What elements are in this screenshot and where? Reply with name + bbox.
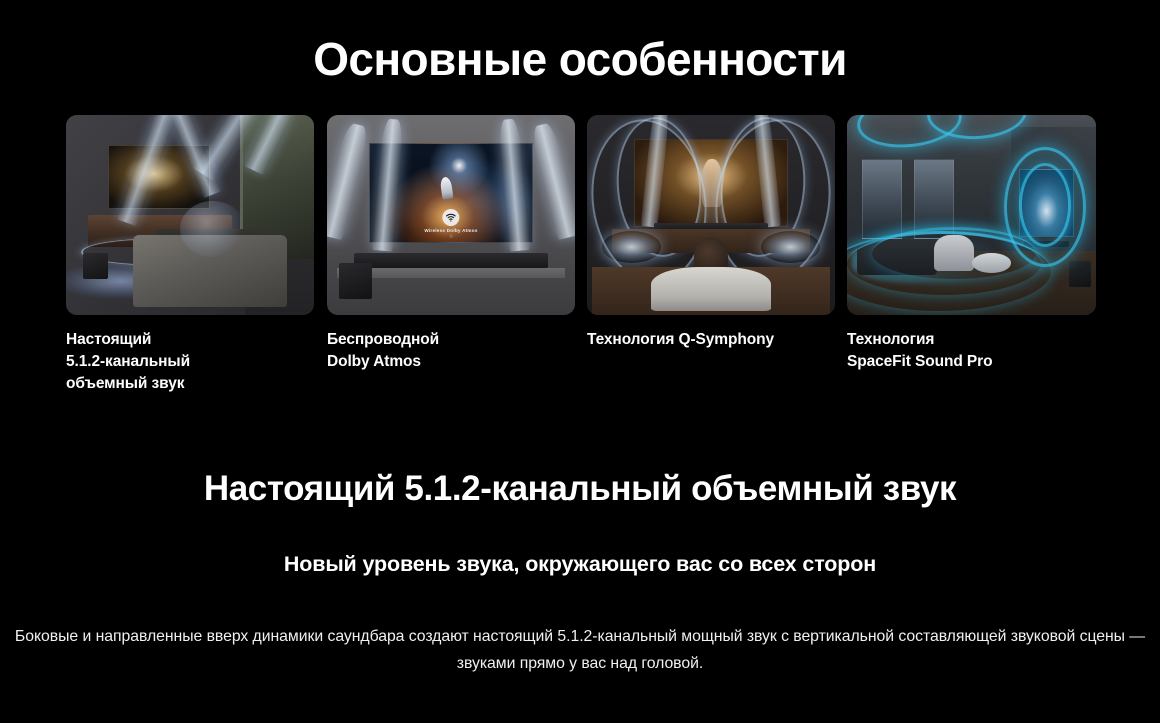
hero-heading: Настоящий 5.1.2-канальный объемный звук (0, 469, 1160, 509)
sound-beam-icon (327, 122, 370, 241)
acoustic-halo-icon (1019, 163, 1071, 247)
q-symphony-scene-illustration (587, 115, 835, 315)
sound-beam-icon (529, 122, 575, 241)
feature-card-caption: Беспроводной Dolby Atmos (327, 329, 575, 373)
wireless-dolby-atmos-badge: Wireless Dolby Atmos ☃ (424, 209, 477, 240)
subwoofer (339, 263, 371, 299)
living-room-scene-illustration (66, 115, 314, 315)
wireless-dolby-atmos-label: Wireless Dolby Atmos (424, 228, 477, 233)
subwoofer (83, 253, 108, 279)
speaker-burst-icon (761, 231, 821, 263)
sound-orb (180, 201, 244, 257)
feature-card-dolby-atmos[interactable]: Wireless Dolby Atmos ☃ Беспроводной Dolb… (327, 115, 575, 373)
feature-card-q-symphony[interactable]: Технология Q-Symphony (587, 115, 835, 351)
feature-thumbnail-spacefit-sound-pro[interactable] (847, 115, 1096, 315)
viewer-body (651, 267, 770, 311)
feature-card-strip: Настоящий 5.1.2-канальный объемный звук (66, 115, 1095, 400)
subwoofer (1069, 261, 1091, 287)
space-shuttle-graphic (440, 177, 454, 200)
hero-body-text: Боковые и направленные вверх динамики са… (10, 623, 1150, 677)
spacefit-scene-illustration (847, 115, 1096, 315)
feature-card-caption: Технология SpaceFit Sound Pro (847, 329, 1096, 373)
feature-thumbnail-surround-sound[interactable] (66, 115, 314, 315)
feature-card-surround-sound[interactable]: Настоящий 5.1.2-канальный объемный звук (66, 115, 314, 395)
dolby-atmos-scene-illustration: Wireless Dolby Atmos ☃ (327, 115, 575, 315)
hero-subheading: Новый уровень звука, окружающего вас со … (0, 552, 1160, 577)
atmos-person-icon: ☃ (449, 235, 453, 240)
feature-card-caption: Настоящий 5.1.2-канальный объемный звук (66, 329, 314, 395)
room-window (862, 159, 902, 239)
room-scan-sweep (872, 227, 1036, 279)
wifi-icon (442, 209, 459, 226)
page-title: Основные особенности (0, 34, 1160, 85)
soundbar (354, 253, 547, 268)
feature-thumbnail-dolby-atmos[interactable]: Wireless Dolby Atmos ☃ (327, 115, 575, 315)
feature-thumbnail-q-symphony[interactable] (587, 115, 835, 315)
feature-card-caption: Технология Q-Symphony (587, 329, 835, 351)
feature-card-spacefit-sound-pro[interactable]: Технология SpaceFit Sound Pro (847, 115, 1096, 373)
speaker-burst-icon (602, 231, 662, 263)
